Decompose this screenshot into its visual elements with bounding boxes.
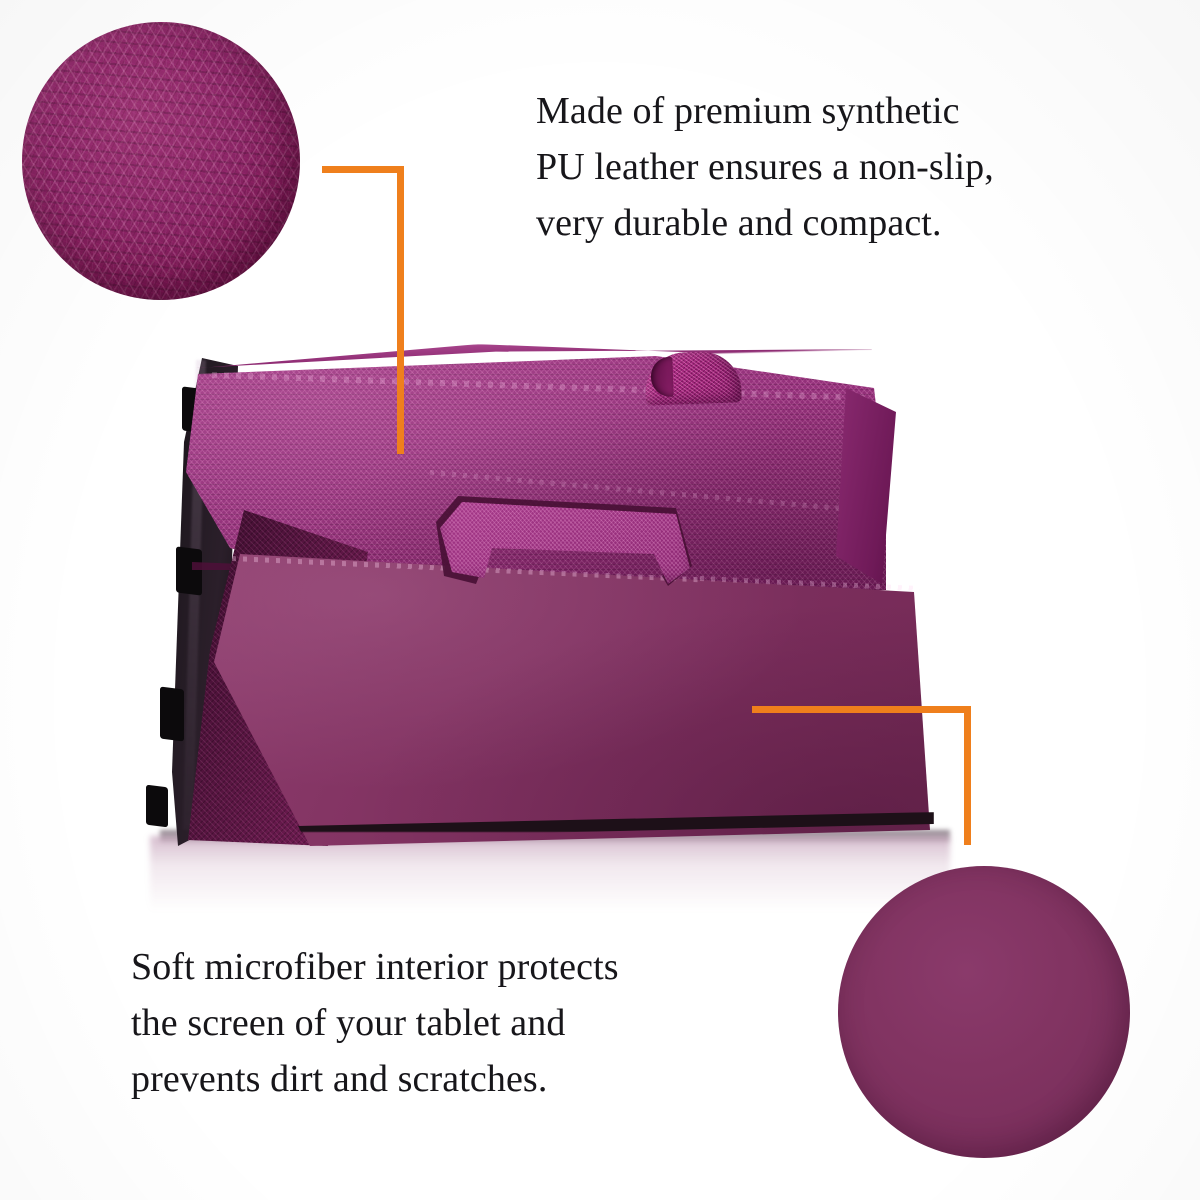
callout-line: prevents dirt and scratches. bbox=[131, 1052, 791, 1108]
callout-text-premium-leather: Made of premium synthetic PU leather ens… bbox=[536, 84, 1146, 252]
callout-leader-line-bottom-vertical bbox=[964, 706, 971, 845]
callout-line: PU leather ensures a non-slip, bbox=[536, 140, 1146, 196]
microfiber-swatch bbox=[838, 866, 1130, 1158]
product-reflection bbox=[150, 836, 950, 922]
port-cutout bbox=[160, 687, 184, 742]
port-cutout bbox=[146, 785, 168, 828]
callout-leader-line-top-horizontal bbox=[322, 166, 404, 173]
callout-line: Made of premium synthetic bbox=[536, 84, 1146, 140]
callout-text-microfiber-interior: Soft microfiber interior protects the sc… bbox=[131, 940, 791, 1108]
callout-line: the screen of your tablet and bbox=[131, 996, 791, 1052]
callout-line: very durable and compact. bbox=[536, 196, 1146, 252]
infographic-canvas: Made of premium synthetic PU leather ens… bbox=[0, 0, 1200, 1200]
callout-leader-line-bottom-horizontal bbox=[752, 706, 971, 713]
callout-line: Soft microfiber interior protects bbox=[131, 940, 791, 996]
leather-grain-swatch bbox=[22, 22, 300, 300]
port-cutout bbox=[176, 546, 202, 595]
callout-leader-line-top-vertical bbox=[397, 166, 404, 454]
